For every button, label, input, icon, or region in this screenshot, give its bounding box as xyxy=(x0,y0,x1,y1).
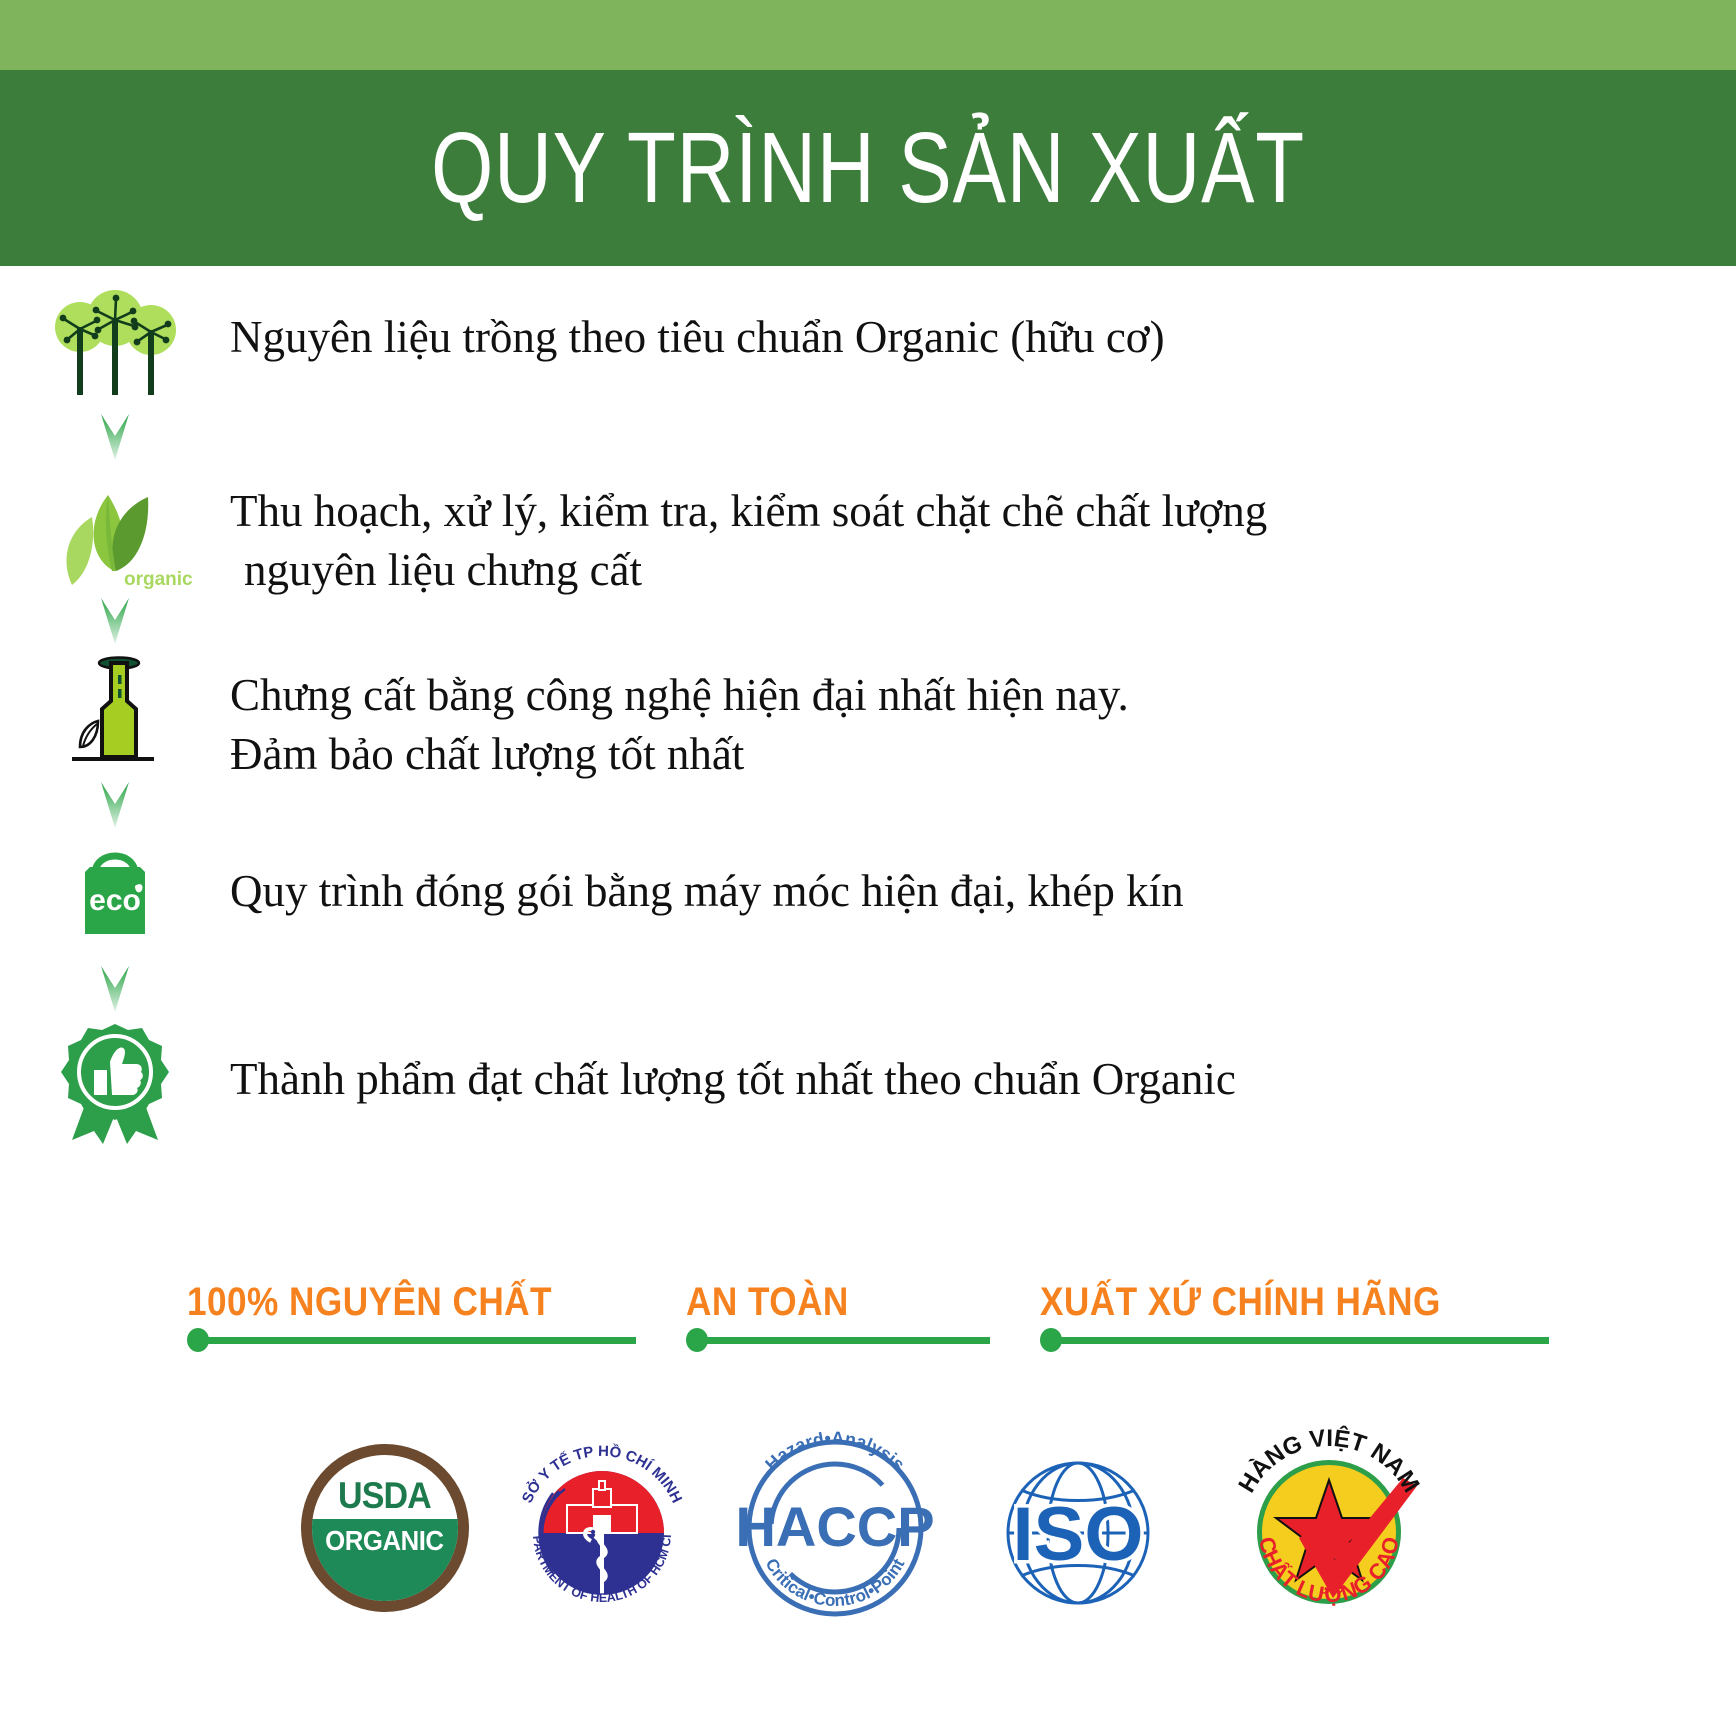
haccp-logo: Hazard•Analysis HACCP Critical•Control•P… xyxy=(735,1428,935,1628)
eco-bag-label: eco xyxy=(89,884,141,917)
rule-line xyxy=(206,1337,636,1344)
step-5-line-1: Thành phẩm đạt chất lượng tốt nhất theo … xyxy=(230,1054,1236,1104)
step-1-text: Nguyên liệu trồng theo tiêu chuẩn Organi… xyxy=(230,280,1736,367)
haccp-top-text: Hazard•Analysis xyxy=(761,1427,908,1474)
chevron-down-arrow-icon xyxy=(98,410,132,464)
chevron-down-arrow-icon xyxy=(98,778,132,832)
three-trees-icon xyxy=(50,280,180,410)
page-title: QUY TRÌNH SẢN XUẤT xyxy=(174,70,1563,266)
process-step-3: Chưng cất bằng công nghệ hiện đại nhất h… xyxy=(0,648,1736,832)
eco-bag-icon: eco xyxy=(50,832,180,962)
feature-safe-label: AN TOÀN xyxy=(686,1280,849,1325)
feature-pure-rule xyxy=(187,1331,636,1349)
rule-line xyxy=(705,1337,990,1344)
step-4-line-1: Quy trình đóng gói bằng máy móc hiện đại… xyxy=(230,866,1184,916)
certification-logos: USDA ORGANIC SỞ Y TẾ TP HỒ CHÍ MINH xyxy=(0,1420,1736,1635)
iso-logo: ISO xyxy=(973,1448,1183,1608)
step-2-line-1: Thu hoạch, xử lý, kiểm tra, kiểm soát ch… xyxy=(230,486,1267,536)
quality-badge-thumbs-up-icon xyxy=(50,1016,180,1146)
feature-origin-label: XUẤT XỨ CHÍNH HÃNG xyxy=(1040,1280,1441,1325)
process-step-5: Thành phẩm đạt chất lượng tốt nhất theo … xyxy=(0,1016,1736,1146)
step-3-text: Chưng cất bằng công nghệ hiện đại nhất h… xyxy=(230,648,1736,785)
step-2-line-2: nguyên liệu chưng cất xyxy=(230,541,1676,600)
feature-safe: AN TOÀN xyxy=(686,1280,990,1349)
usda-organic-logo: USDA ORGANIC xyxy=(301,1444,469,1612)
organic-leaves-label: organic xyxy=(124,569,193,590)
step-5-text: Thành phẩm đạt chất lượng tốt nhất theo … xyxy=(230,1016,1736,1109)
step-4-text: Quy trình đóng gói bằng máy móc hiện đại… xyxy=(230,832,1736,921)
step-1-icon-column xyxy=(0,280,230,464)
step-1-line-1: Nguyên liệu trồng theo tiêu chuẩn Organi… xyxy=(230,312,1165,362)
iso-center-text: ISO xyxy=(1012,1492,1143,1577)
rule-line xyxy=(1059,1337,1549,1344)
process-steps-list: Nguyên liệu trồng theo tiêu chuẩn Organi… xyxy=(0,280,1736,1146)
usda-top-text: USDA xyxy=(338,1475,431,1517)
step-3-line-1: Chưng cất bằng công nghệ hiện đại nhất h… xyxy=(230,670,1129,720)
feature-badges: 100% NGUYÊN CHẤT AN TOÀN XUẤT XỨ CHÍNH H… xyxy=(0,1280,1736,1349)
hang-viet-nam-chat-luong-cao-logo: HÀNG VIỆT NAM CHẤT LƯỢNG CAO xyxy=(1221,1420,1436,1635)
feature-safe-rule xyxy=(686,1331,990,1349)
organic-leaves-icon: organic xyxy=(50,464,180,594)
header-light-band xyxy=(0,0,1736,70)
production-process-infographic: QUY TRÌNH SẢN XUẤT xyxy=(0,0,1736,1724)
step-2-text: Thu hoạch, xử lý, kiểm tra, kiểm soát ch… xyxy=(230,464,1736,601)
step-4-icon-column: eco xyxy=(0,832,230,1016)
oil-bottle-icon xyxy=(50,648,180,778)
chevron-down-arrow-icon xyxy=(98,962,132,1016)
feature-origin-rule xyxy=(1040,1331,1549,1349)
feature-origin: XUẤT XỨ CHÍNH HÃNG xyxy=(1040,1280,1549,1349)
process-step-4: eco Quy trình đóng gói bằng máy móc hiện… xyxy=(0,832,1736,1016)
step-5-icon-column xyxy=(0,1016,230,1146)
step-3-icon-column xyxy=(0,648,230,832)
process-step-2: organic Thu hoạch, xử lý, kiểm tra, kiểm… xyxy=(0,464,1736,648)
feature-pure: 100% NGUYÊN CHẤT xyxy=(187,1280,636,1349)
chevron-down-arrow-icon xyxy=(98,594,132,648)
step-2-icon-column: organic xyxy=(0,464,230,648)
process-step-1: Nguyên liệu trồng theo tiêu chuẩn Organi… xyxy=(0,280,1736,464)
department-of-health-hcmc-logo: SỞ Y TẾ TP HỒ CHÍ MINH xyxy=(507,1433,697,1623)
usda-bottom-text: ORGANIC xyxy=(325,1525,443,1557)
feature-pure-label: 100% NGUYÊN CHẤT xyxy=(187,1280,552,1325)
step-3-line-2: Đảm bảo chất lượng tốt nhất xyxy=(230,725,1676,784)
haccp-center-text: HACCP xyxy=(735,1495,934,1558)
